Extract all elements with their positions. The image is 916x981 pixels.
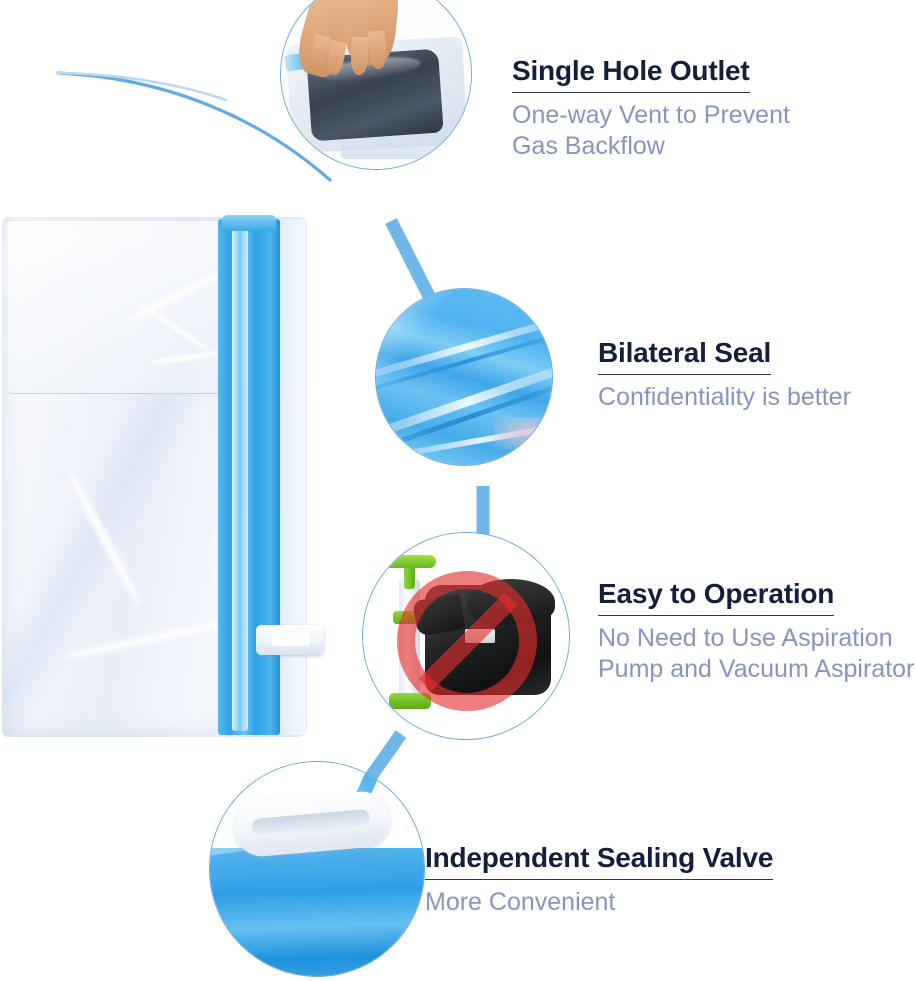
highlight-glow [494,417,553,449]
feature-subtitle: No Need to Use Aspiration Pump and Vacuu… [598,623,914,686]
connector-curve-fade [58,73,226,100]
feature-photo-bilateral-seal [375,288,553,466]
zipper-rail [232,223,248,731]
feature-subtitle-line: One-way Vent to Prevent [512,100,790,132]
feature-subtitle: More Convenient [425,887,773,919]
feature-photo-easy-to-operation [362,532,570,740]
feature-text-independent-sealing-valve: Independent Sealing Valve More Convenien… [425,842,773,918]
slider-clip-notch [272,633,310,646]
feature-subtitle-line: Pump and Vacuum Aspirator [598,654,914,686]
bag-right-edge [278,219,306,735]
blue-zipper-strip [218,219,280,735]
feature-title: Easy to Operation [598,578,834,616]
infographic-page: Single Hole Outlet One-way Vent to Preve… [0,0,916,981]
feature-title: Independent Sealing Valve [425,842,773,880]
feature-photo-single-hole-outlet [280,0,472,170]
blue-bag-surface [209,848,425,977]
feature-subtitle: One-way Vent to Prevent Gas Backflow [512,100,790,163]
feature-title: Bilateral Seal [598,337,771,375]
main-product-photo [0,205,330,750]
feature-title: Single Hole Outlet [512,55,750,93]
feature-subtitle-line: Gas Backflow [512,131,790,163]
hand-pump-handle [384,555,436,568]
feature-text-single-hole-outlet: Single Hole Outlet One-way Vent to Preve… [512,55,790,163]
feature-text-easy-to-operation: Easy to Operation No Need to Use Aspirat… [598,578,914,686]
feature-subtitle-line: No Need to Use Aspiration [598,623,914,655]
feature-subtitle-line: Confidentiality is better [598,382,851,414]
feature-photo-independent-sealing-valve [209,761,425,977]
zipper-cap [222,215,276,231]
feature-subtitle-line: More Convenient [425,887,773,919]
feature-text-bilateral-seal: Bilateral Seal Confidentiality is better [598,337,851,413]
feature-subtitle: Confidentiality is better [598,382,851,414]
